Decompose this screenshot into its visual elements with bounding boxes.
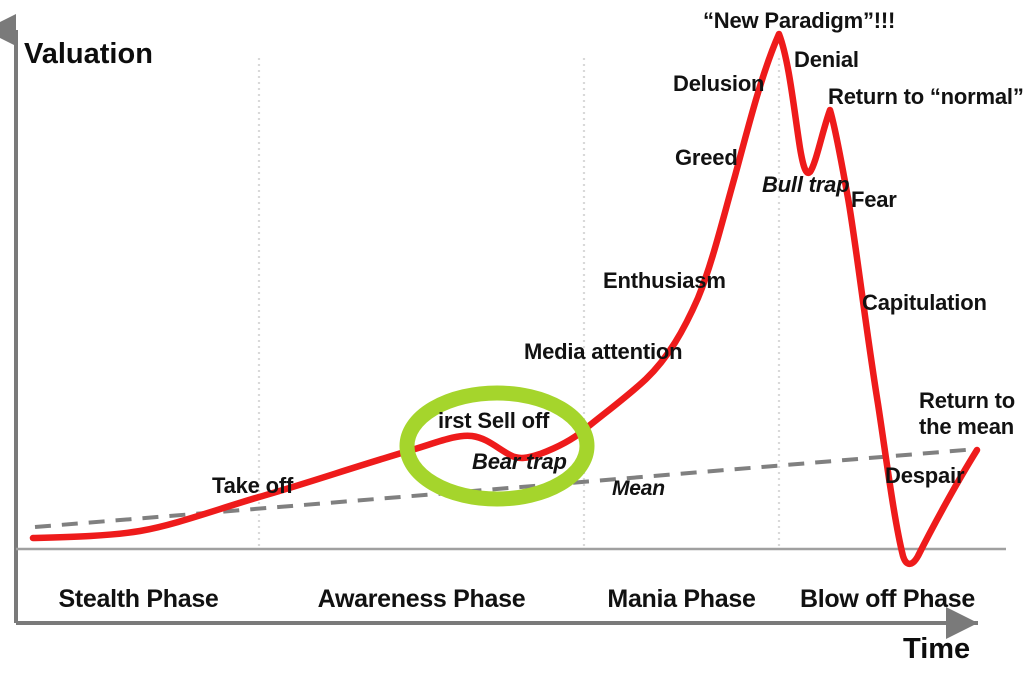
annotation-denial: Denial [794, 48, 859, 72]
annotation-greed: Greed [675, 146, 738, 170]
annotation-take-off: Take off [212, 474, 293, 498]
annotation-return-to-the-mean-line1: Return to [919, 389, 1015, 413]
phase-label-mania: Mania Phase [584, 585, 779, 614]
annotation-new-paradigm: “New Paradigm”!!! [703, 9, 895, 33]
x-axis-title: Time [903, 633, 970, 666]
annotation-delusion: Delusion [673, 72, 764, 96]
bubble-chart-canvas: Valuation Time Take off irst Sell off Be… [0, 0, 1024, 688]
annotation-return-to-the-mean-line2: the mean [919, 415, 1014, 439]
annotation-enthusiasm: Enthusiasm [603, 269, 726, 293]
annotation-media-attention: Media attention [524, 340, 682, 364]
axes [16, 30, 1006, 623]
phase-label-stealth: Stealth Phase [18, 585, 259, 614]
phase-label-blowoff: Blow off Phase [779, 585, 996, 614]
annotation-bull-trap: Bull trap [762, 173, 849, 197]
annotation-capitulation: Capitulation [862, 291, 987, 315]
annotation-despair: Despair [885, 464, 964, 488]
annotation-mean: Mean [612, 478, 665, 501]
annotation-first-sell-off: irst Sell off [438, 409, 549, 433]
phase-label-awareness: Awareness Phase [259, 585, 584, 614]
y-axis-title: Valuation [24, 38, 153, 71]
annotation-bear-trap: Bear trap [472, 450, 567, 474]
annotation-return-to-normal: Return to “normal” [828, 85, 1024, 109]
valuation-curve [33, 34, 977, 564]
annotation-fear: Fear [851, 188, 897, 212]
